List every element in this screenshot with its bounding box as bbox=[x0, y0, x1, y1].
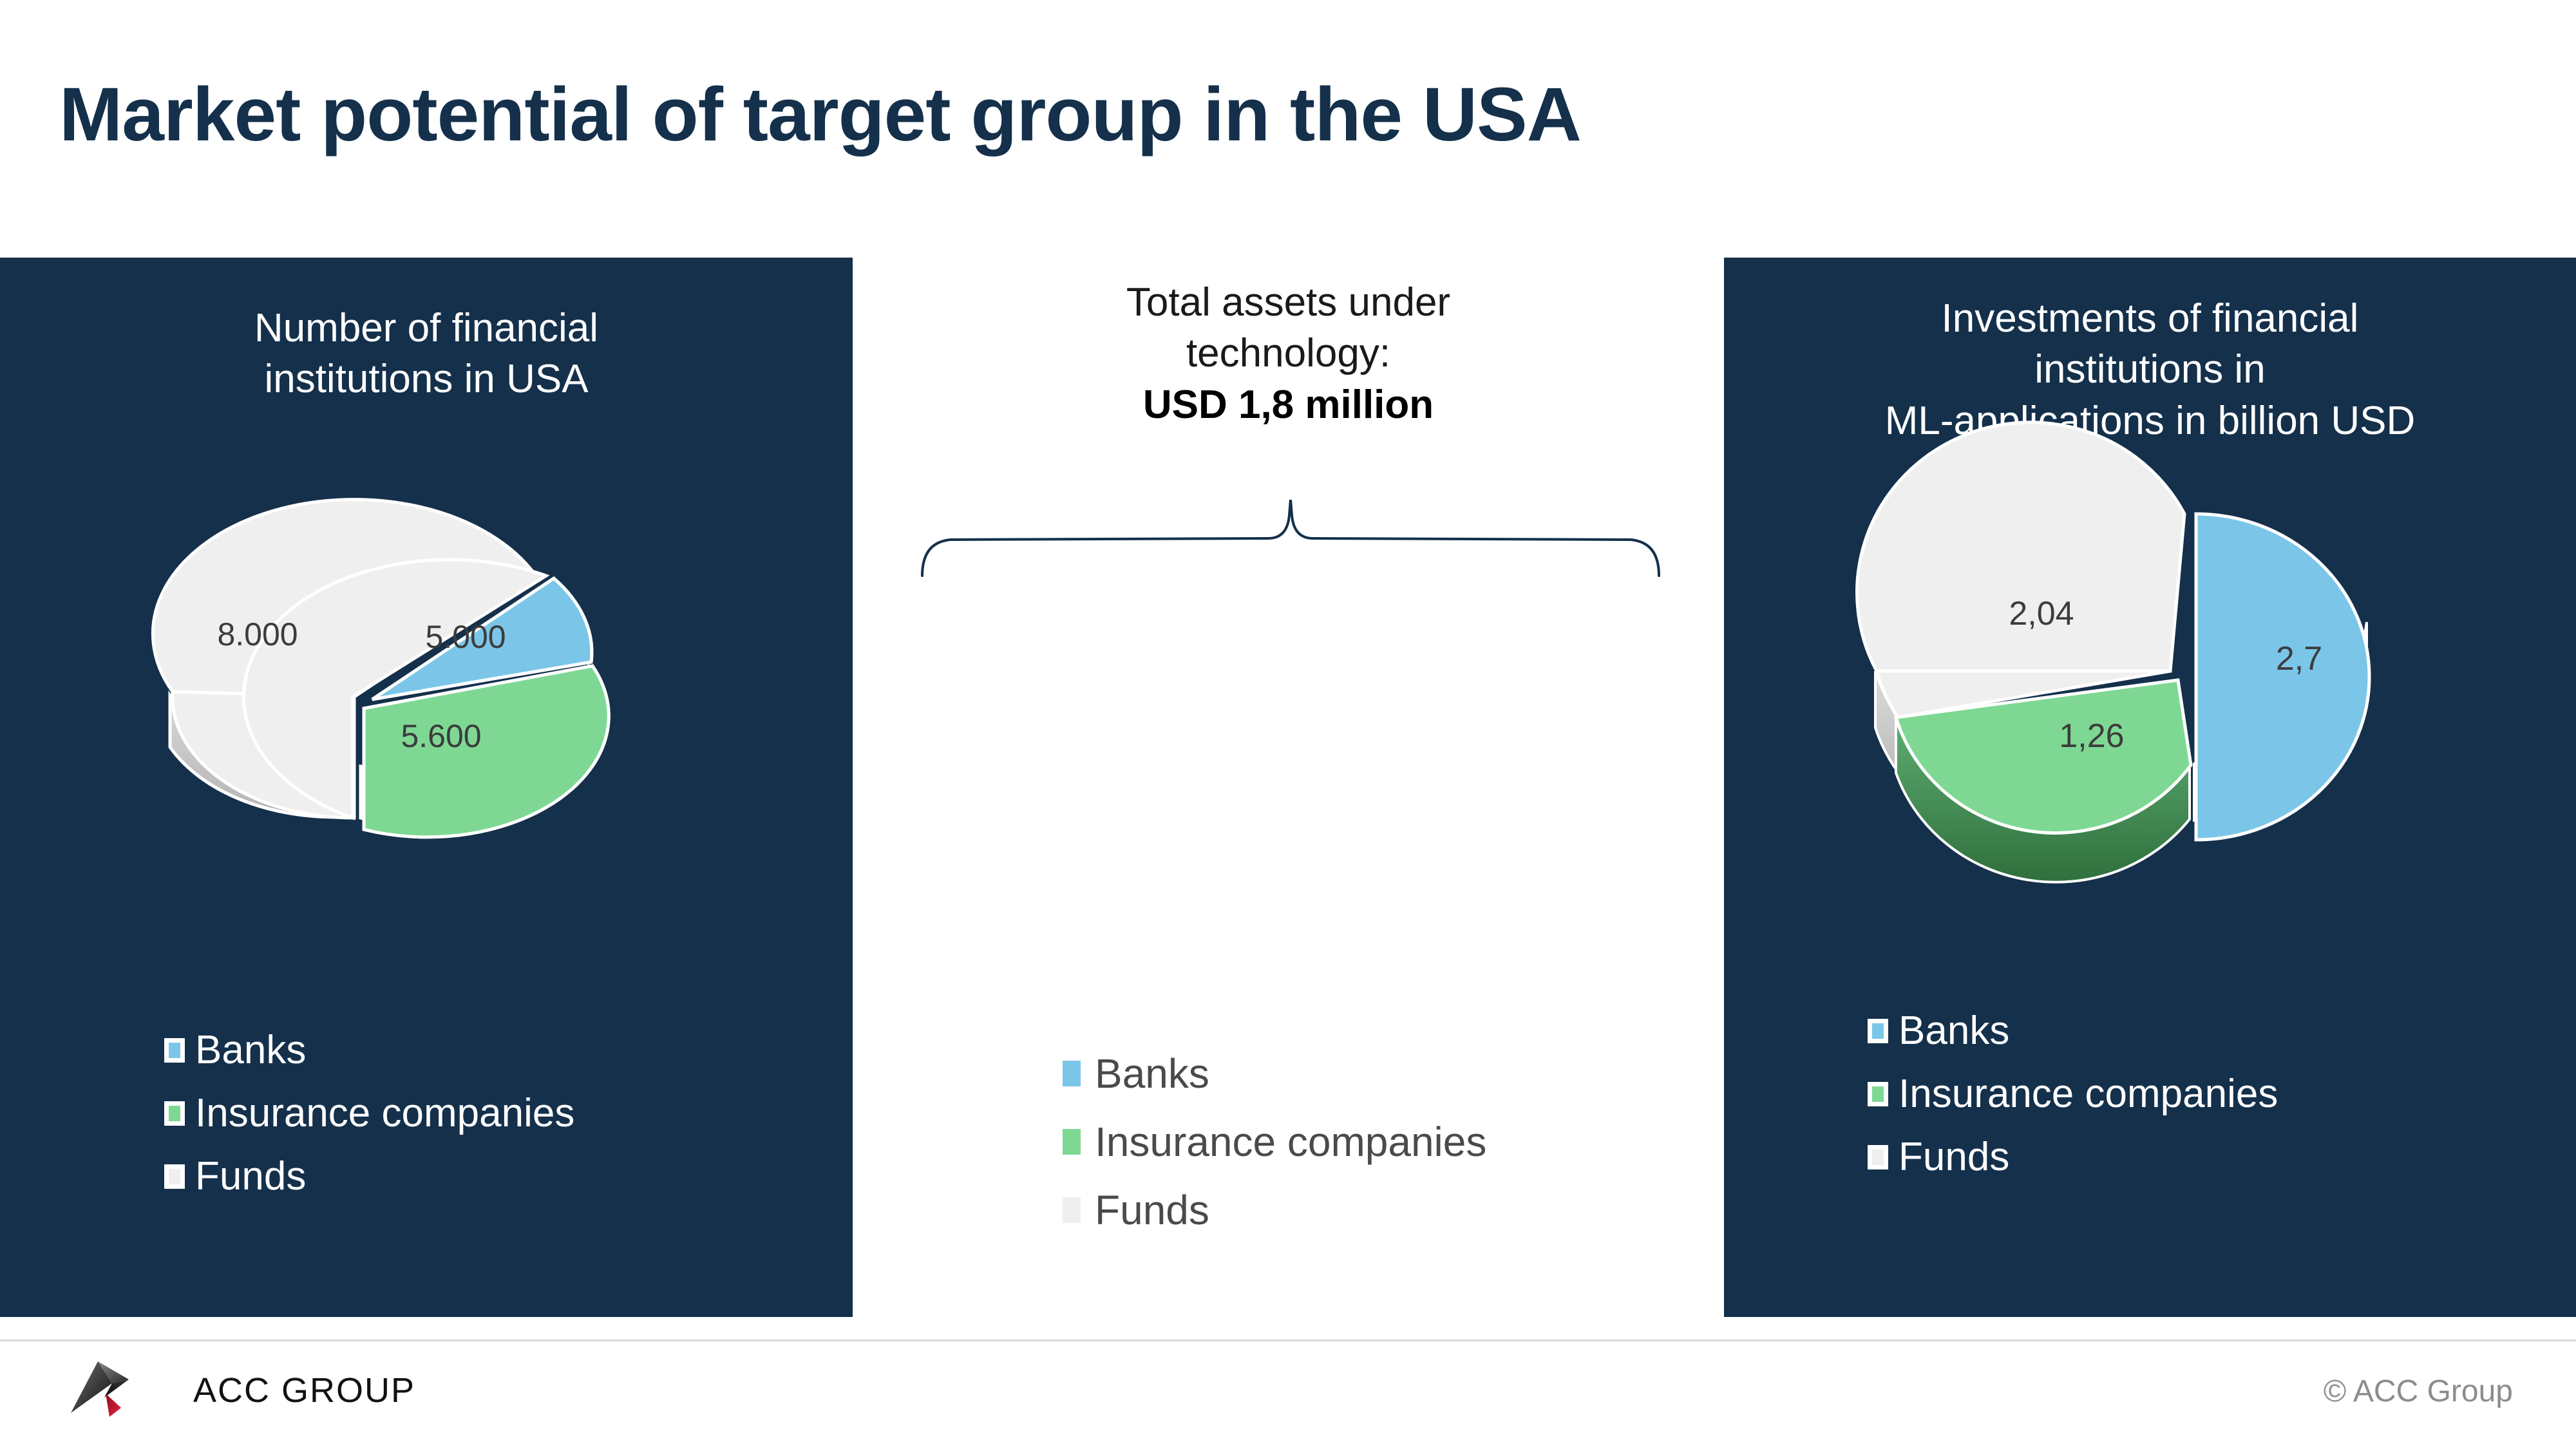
legend-item-banks[interactable]: Banks bbox=[164, 1030, 574, 1070]
curly-brace-icon bbox=[917, 500, 1664, 577]
legend-label-banks: Banks bbox=[195, 1030, 306, 1070]
pie-label-funds: 8.000 bbox=[217, 616, 298, 652]
legend-middle: Banks Insurance companies Funds bbox=[1063, 1053, 1486, 1258]
panel-middle-heading-line1: Total assets under bbox=[853, 277, 1724, 328]
legend-label-insurance: Insurance companies bbox=[195, 1094, 574, 1133]
panel-middle-heading: Total assets under technology: USD 1,8 m… bbox=[853, 277, 1724, 430]
pie-chart-number-of-institutions: 8.000 5.000 5.600 bbox=[103, 509, 747, 869]
legend-label-insurance: Insurance companies bbox=[1095, 1121, 1486, 1162]
legend-label-funds: Funds bbox=[1899, 1137, 2009, 1177]
pie-label-banks: 5.000 bbox=[425, 619, 506, 655]
legend-swatch-funds-icon bbox=[1868, 1145, 1888, 1170]
acc-group-logo-icon bbox=[70, 1358, 179, 1419]
pie-label-banks: 2,7 bbox=[2276, 640, 2322, 677]
panel-middle-total-value: USD 1,8 million bbox=[853, 379, 1724, 430]
footer-copyright: © ACC Group bbox=[2324, 1374, 2513, 1409]
panel-left-heading: Number of financial institutions in USA bbox=[0, 303, 853, 405]
legend-label-insurance: Insurance companies bbox=[1899, 1074, 2278, 1114]
legend-item-banks[interactable]: Banks bbox=[1063, 1053, 1486, 1094]
pie-label-insurance: 1,26 bbox=[2059, 717, 2124, 755]
panel-right-heading-line1: Investments of financial bbox=[1724, 293, 2576, 344]
legend-label-banks: Banks bbox=[1899, 1011, 2009, 1051]
legend-swatch-insurance-icon bbox=[164, 1101, 185, 1126]
panel-middle-heading-line2: technology: bbox=[853, 328, 1724, 379]
panel-left-heading-line2: institutions in USA bbox=[0, 354, 853, 404]
legend-item-insurance[interactable]: Insurance companies bbox=[1063, 1121, 1486, 1162]
legend-swatch-insurance-icon bbox=[1063, 1129, 1081, 1155]
legend-item-funds[interactable]: Funds bbox=[1063, 1189, 1486, 1231]
pie-label-insurance: 5.600 bbox=[401, 718, 481, 754]
pie-chart-ml-investments: 2,04 1,26 2,7 bbox=[1848, 502, 2531, 889]
legend-swatch-insurance-icon bbox=[1868, 1082, 1888, 1106]
legend-swatch-banks-icon bbox=[1063, 1061, 1081, 1086]
footer-logo-text: ACC GROUP bbox=[193, 1370, 415, 1410]
slide-root: Market potential of target group in the … bbox=[0, 0, 2576, 1449]
legend-item-insurance[interactable]: Insurance companies bbox=[1868, 1074, 2278, 1114]
page-title: Market potential of target group in the … bbox=[59, 71, 1581, 158]
legend-swatch-funds-icon bbox=[1063, 1197, 1081, 1223]
legend-label-funds: Funds bbox=[1095, 1189, 1209, 1231]
panel-left-heading-line1: Number of financial bbox=[0, 303, 853, 354]
legend-item-banks[interactable]: Banks bbox=[1868, 1011, 2278, 1051]
legend-item-insurance[interactable]: Insurance companies bbox=[164, 1094, 574, 1133]
legend-swatch-banks-icon bbox=[1868, 1019, 1888, 1043]
panel-right-heading-line3: ML-applications in billion USD bbox=[1724, 395, 2576, 446]
legend-left: Banks Insurance companies Funds bbox=[164, 1030, 574, 1220]
legend-swatch-funds-icon bbox=[164, 1164, 185, 1189]
legend-right: Banks Insurance companies Funds bbox=[1868, 1011, 2278, 1200]
legend-item-funds[interactable]: Funds bbox=[1868, 1137, 2278, 1177]
panel-right-heading: Investments of financial institutions in… bbox=[1724, 293, 2576, 446]
legend-item-funds[interactable]: Funds bbox=[164, 1157, 574, 1197]
pie-label-funds: 2,04 bbox=[2009, 595, 2074, 632]
legend-swatch-banks-icon bbox=[164, 1038, 185, 1063]
footer-divider bbox=[0, 1340, 2576, 1341]
legend-label-banks: Banks bbox=[1095, 1053, 1209, 1094]
legend-label-funds: Funds bbox=[195, 1157, 306, 1197]
panel-right-heading-line2: institutions in bbox=[1724, 344, 2576, 395]
